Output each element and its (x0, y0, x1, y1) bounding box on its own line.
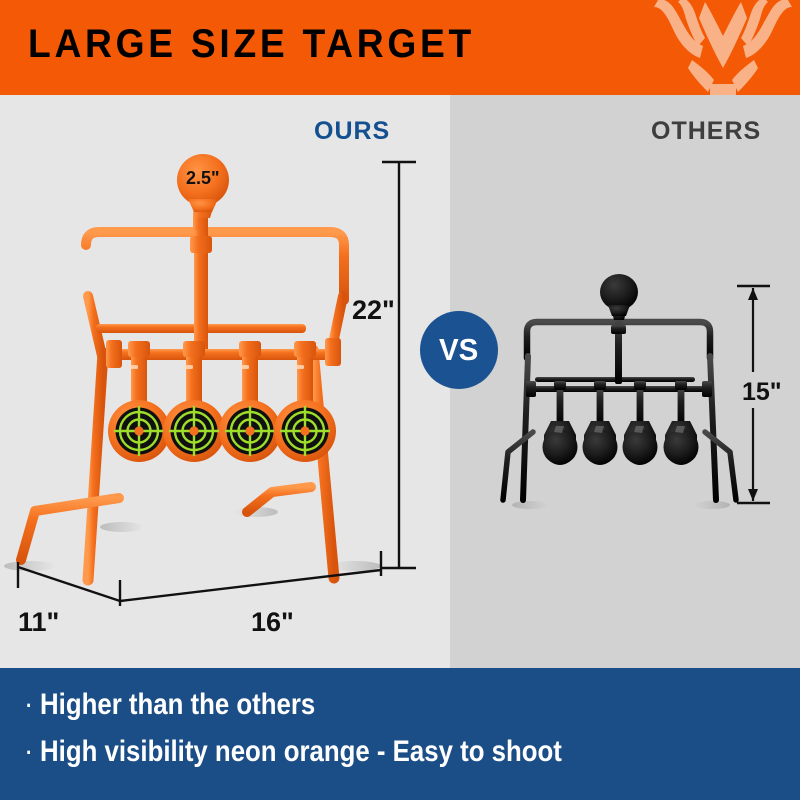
ours-panel (0, 95, 450, 668)
bullet-icon: · (26, 693, 32, 719)
vs-badge-label: VS (439, 332, 478, 368)
benefit-item-2: ·High visibility neon orange - Easy to s… (26, 735, 562, 769)
bullet-icon: · (26, 740, 32, 766)
infographic-page: LARGE SIZE TARGET OURS OTHERS (0, 0, 800, 800)
page-title: LARGE SIZE TARGET (28, 22, 475, 67)
ours-depth-label: 11" (18, 607, 59, 638)
benefit-item-1: ·Higher than the others (26, 688, 315, 722)
benefit-text-2: High visibility neon orange - Easy to sh… (40, 735, 562, 768)
deer-head-antlers-icon (648, 0, 798, 95)
spinner-size-label: 2.5" (186, 168, 220, 189)
benefits-banner: ·Higher than the others ·High visibility… (0, 668, 800, 800)
benefit-text-1: Higher than the others (40, 688, 315, 721)
header-banner: LARGE SIZE TARGET (0, 0, 800, 95)
vs-badge: VS (420, 311, 498, 389)
label-others: OTHERS (651, 117, 761, 146)
ours-width-label: 16" (251, 607, 294, 638)
ours-height-label: 22" (352, 295, 395, 326)
others-height-label: 15" (742, 378, 782, 407)
label-ours: OURS (314, 117, 390, 146)
